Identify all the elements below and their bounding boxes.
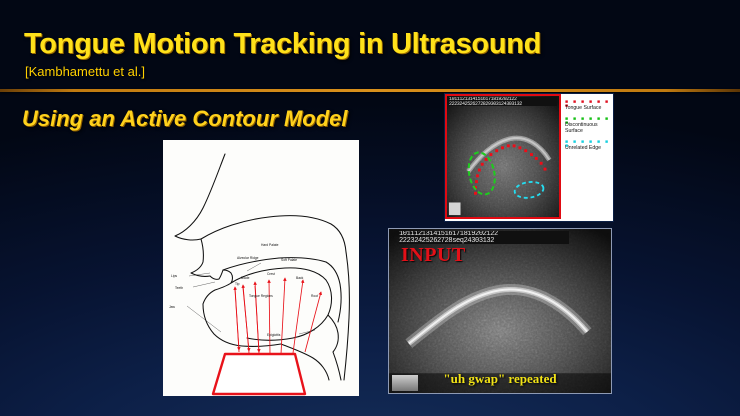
tracking-result-figure: 10111213141516171819202122 2223242526272…	[444, 93, 614, 222]
utterance-caption: "uh gwap" repeated	[389, 371, 611, 387]
legend-label-unrelated-edge: Unrelated Edge	[565, 145, 610, 151]
slide-subtitle: Using an Active Contour Model	[22, 106, 348, 132]
input-ultrasound-figure: 10111213141516171819202122 2223242526272…	[388, 228, 612, 394]
legend-swatch-unrelated-edge: ■ ■ ■ ■ ■ ■ ■	[565, 140, 610, 144]
legend-item-tongue-surface: ■ ■ ■ ■ ■ ■ ■ Tongue Surface	[565, 100, 610, 111]
vocal-tract-diagram-panel: Lips Teeth Jaw Alveolar Ridge Hard Palat…	[163, 140, 359, 396]
label-lips: Lips	[171, 274, 177, 278]
label-root: Root	[311, 294, 318, 298]
label-crest: Crest	[267, 272, 275, 276]
label-epiglottis: Epiglottis	[267, 333, 281, 337]
legend-item-discontinuous-surface: ■ ■ ■ ■ ■ ■ ■ Discontinuous Surface	[565, 117, 610, 134]
contour-legend: ■ ■ ■ ■ ■ ■ ■ Tongue Surface ■ ■ ■ ■ ■ ■…	[561, 94, 613, 221]
frame-counter-strip-top: 10111213141516171819202122 2223242526272…	[449, 97, 557, 106]
label-teeth: Teeth	[175, 286, 183, 290]
label-soft-palate: Soft Palate	[281, 258, 297, 262]
page-title: Tongue Motion Tracking in Ultrasound	[24, 28, 541, 61]
label-back: Back	[296, 276, 304, 280]
label-alveolar-ridge: Alveolar Ridge	[237, 256, 259, 260]
label-jaw: Jaw	[169, 305, 175, 309]
slide-canvas: Tongue Motion Tracking in Ultrasound [Ka…	[0, 0, 740, 416]
label-tip: Tip	[235, 282, 240, 286]
authors-citation: [Kambhamettu et al.]	[25, 64, 145, 79]
legend-label-tongue-surface: Tongue Surface	[565, 105, 610, 111]
legend-swatch-discontinuous-surface: ■ ■ ■ ■ ■ ■ ■	[565, 117, 610, 121]
label-tongue-regions: Tongue Regions	[249, 294, 273, 298]
label-hard-palate: Hard Palate	[261, 243, 279, 247]
label-blade: Blade	[241, 276, 250, 280]
tracking-ultrasound-image: 10111213141516171819202122 2223242526272…	[445, 94, 561, 219]
legend-label-discontinuous-surface: Discontinuous Surface	[565, 122, 610, 134]
input-overlay-label: INPUT	[401, 244, 466, 267]
legend-item-unrelated-edge: ■ ■ ■ ■ ■ ■ ■ Unrelated Edge	[565, 140, 610, 151]
frame-counter-line-2: 2223242526272829303124303132	[449, 102, 557, 107]
legend-swatch-tongue-surface: ■ ■ ■ ■ ■ ■ ■	[565, 100, 610, 104]
title-divider-rule	[0, 89, 740, 92]
frame-counter-strip-bottom: 10111213141516171819202122 2223242526272…	[399, 231, 569, 244]
